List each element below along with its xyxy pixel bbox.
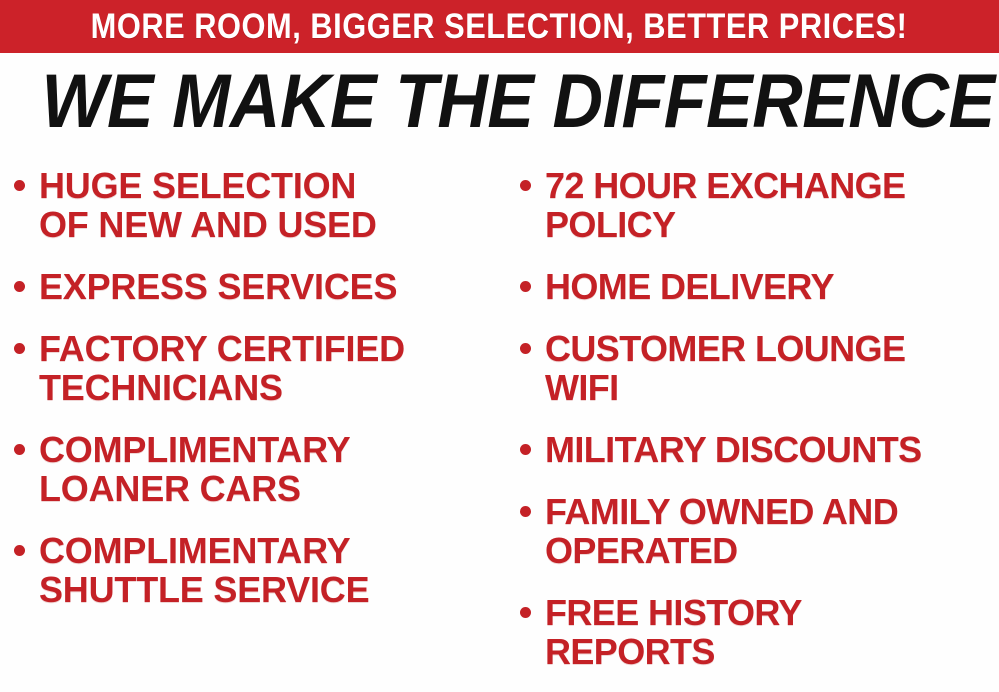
list-item: MILITARY DISCOUNTS <box>520 430 999 469</box>
bullet-dot-icon <box>14 343 25 354</box>
list-item-label: HUGE SELECTION OF NEW AND USED <box>39 166 377 244</box>
top-banner: MORE ROOM, BIGGER SELECTION, BETTER PRIC… <box>0 0 999 53</box>
list-item-label: CUSTOMER LOUNGE WIFI <box>545 329 905 407</box>
list-item-label: EXPRESS SERVICES <box>39 267 397 306</box>
bullet-dot-icon <box>14 545 25 556</box>
list-item: FACTORY CERTIFIED TECHNICIANS <box>14 329 494 407</box>
bullet-dot-icon <box>520 343 531 354</box>
list-item-label: MILITARY DISCOUNTS <box>545 430 922 469</box>
list-item-label: COMPLIMENTARY SHUTTLE SERVICE <box>39 531 369 609</box>
list-item: COMPLIMENTARY LOANER CARS <box>14 430 494 508</box>
dealership-promo-poster: MORE ROOM, BIGGER SELECTION, BETTER PRIC… <box>0 0 999 692</box>
bullet-dot-icon <box>14 444 25 455</box>
list-item-label: 72 HOUR EXCHANGE POLICY <box>545 166 905 244</box>
list-item: COMPLIMENTARY SHUTTLE SERVICE <box>14 531 494 609</box>
list-item: FREE HISTORY REPORTS <box>520 593 999 671</box>
bullet-dot-icon <box>520 607 531 618</box>
bullet-dot-icon <box>14 180 25 191</box>
bullet-dot-icon <box>520 281 531 292</box>
main-headline-container: WE MAKE THE DIFFERENCE <box>0 64 999 140</box>
list-item-label: FREE HISTORY REPORTS <box>545 593 802 671</box>
bullet-dot-icon <box>520 180 531 191</box>
list-item: EXPRESS SERVICES <box>14 267 494 306</box>
bullet-dot-icon <box>520 444 531 455</box>
banner-headline: MORE ROOM, BIGGER SELECTION, BETTER PRIC… <box>91 9 908 44</box>
list-item-label: FACTORY CERTIFIED TECHNICIANS <box>39 329 405 407</box>
list-item: HOME DELIVERY <box>520 267 999 306</box>
main-headline: WE MAKE THE DIFFERENCE <box>41 64 994 140</box>
bullet-dot-icon <box>14 281 25 292</box>
list-item: 72 HOUR EXCHANGE POLICY <box>520 166 999 244</box>
bullet-dot-icon <box>520 506 531 517</box>
list-item: HUGE SELECTION OF NEW AND USED <box>14 166 494 244</box>
list-item-label: COMPLIMENTARY LOANER CARS <box>39 430 350 508</box>
list-item-label: FAMILY OWNED AND OPERATED <box>545 492 898 570</box>
benefits-column-left: HUGE SELECTION OF NEW AND USED EXPRESS S… <box>14 166 494 632</box>
list-item: FAMILY OWNED AND OPERATED <box>520 492 999 570</box>
list-item: CUSTOMER LOUNGE WIFI <box>520 329 999 407</box>
benefits-column-right: 72 HOUR EXCHANGE POLICY HOME DELIVERY CU… <box>520 166 999 692</box>
list-item-label: HOME DELIVERY <box>545 267 834 306</box>
